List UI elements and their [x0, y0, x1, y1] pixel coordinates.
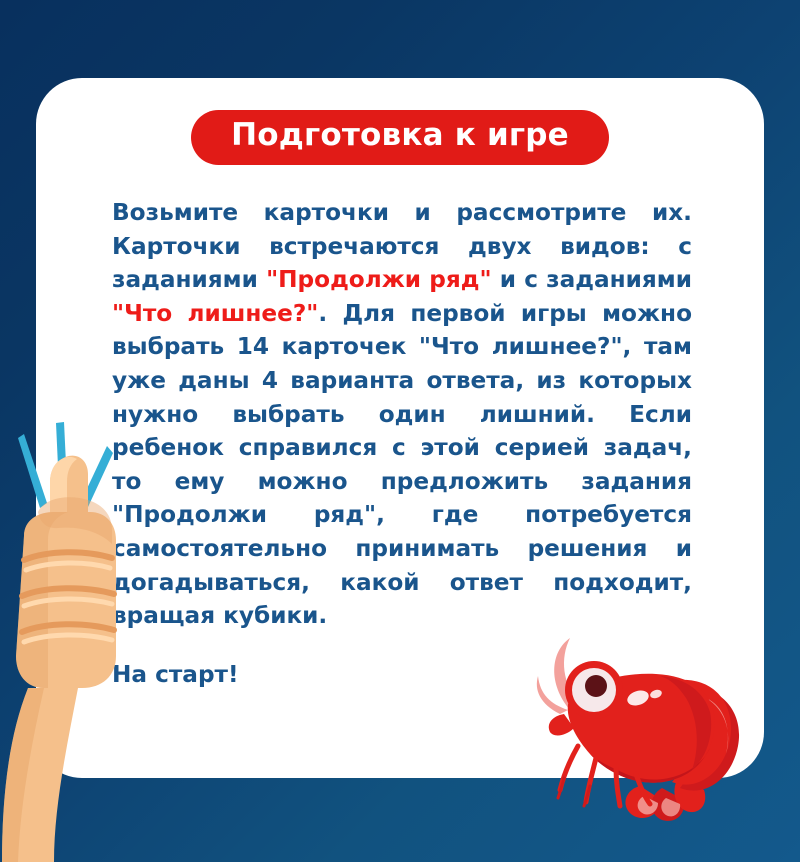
body-highlight-prodolzhi-ryad: "Продолжи ряд" [266, 266, 491, 293]
title-badge-container: Подготовка к игре [36, 110, 764, 165]
body-paragraph-1: Возьмите карточки и рассмотрите их. Карт… [112, 196, 692, 633]
body-segment-3: и с заданиями [492, 266, 692, 293]
poster-canvas: Подготовка к игре Возьмите карточки и ра… [0, 0, 800, 862]
body-text-block: Возьмите карточки и рассмотрите их. Карт… [112, 196, 692, 691]
body-highlight-chto-lishnee: "Что лишнее?" [112, 300, 318, 327]
title-badge: Подготовка к игре [191, 110, 609, 165]
body-paragraph-2: На старт! [112, 658, 692, 692]
body-segment-5: . Для первой игры можно выбрать 14 карто… [112, 300, 692, 629]
